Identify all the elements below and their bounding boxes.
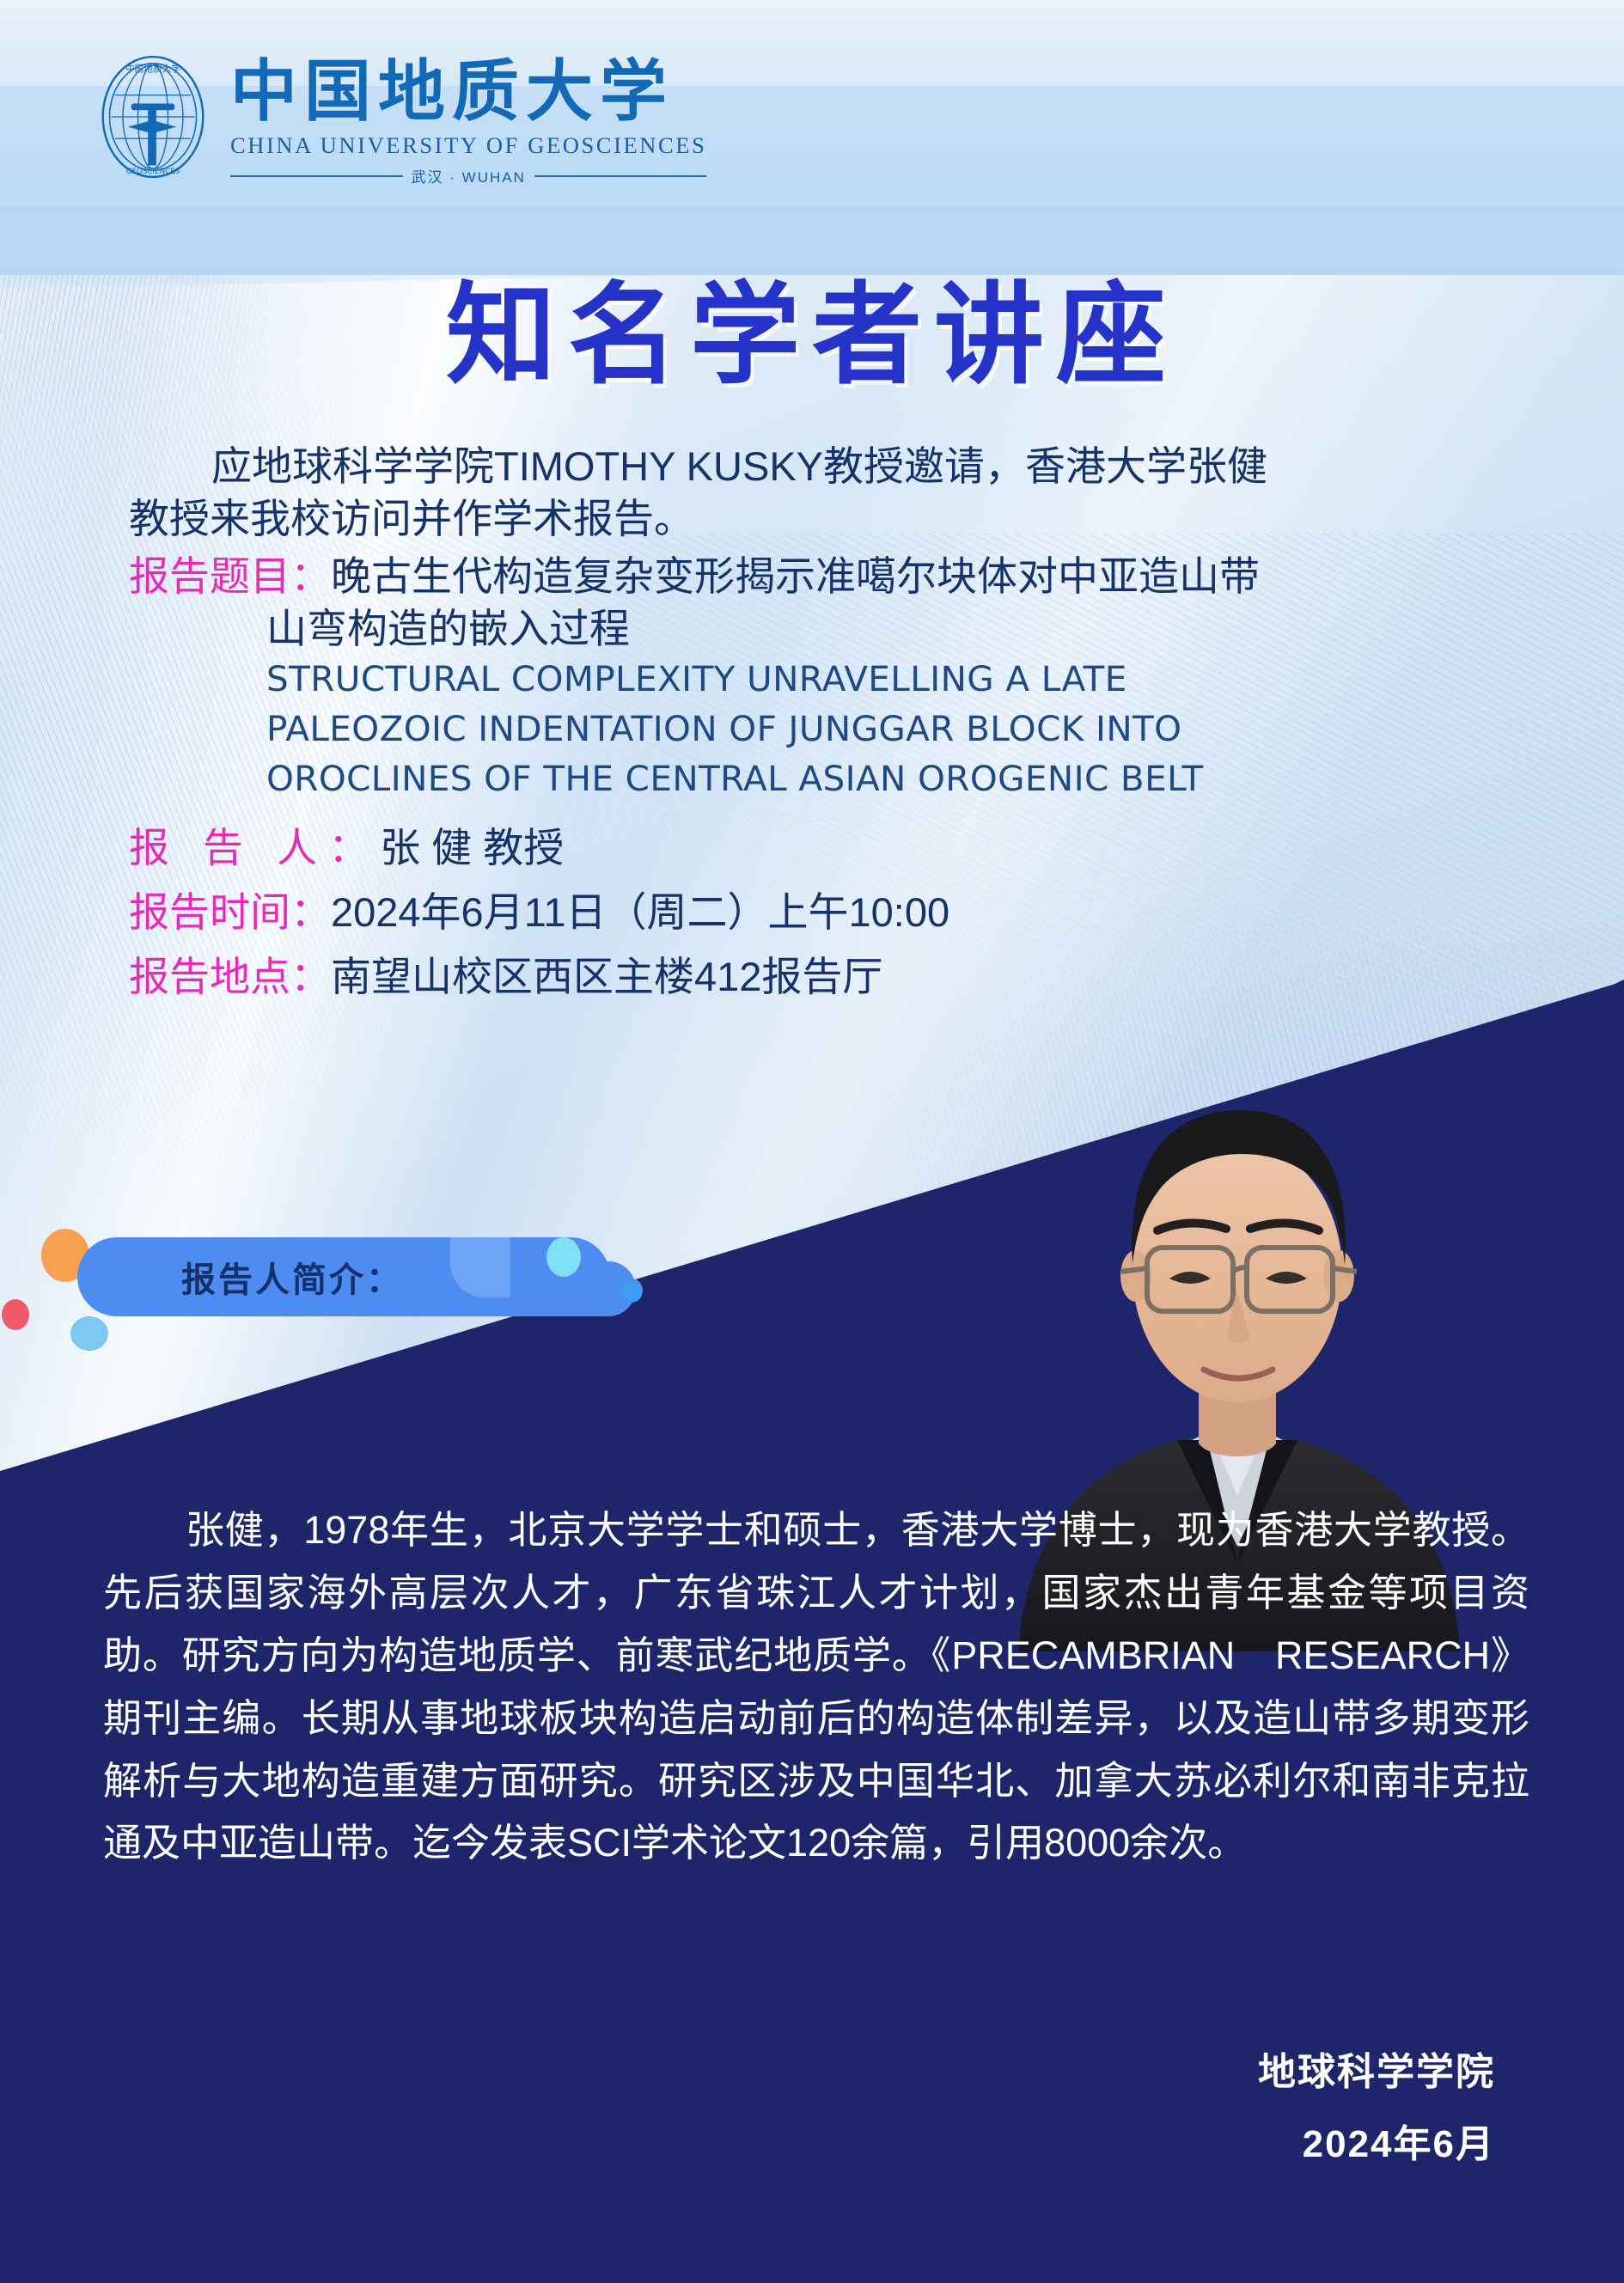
biography-text: 张健，1978年生，北京大学学士和硕士，香港大学博士，现为香港大学教授。先后获国… (103, 1499, 1529, 1875)
topic-en-line-2: PALEOZOIC INDENTATION OF JUNGGAR BLOCK I… (266, 705, 1538, 754)
decor-dot-cyan (546, 1237, 581, 1277)
topic-row: 报告题目： 晚古生代构造复杂变形揭示准噶尔块体对中亚造山带 (129, 550, 1538, 602)
intro-line-2: 教授来我校访问并作学术报告。 (129, 492, 1538, 545)
svg-text:中国地质大学: 中国地质大学 (125, 64, 180, 75)
bio-section-badge: 报告人简介： (0, 1217, 653, 1337)
speaker-label: 报 告 人： (129, 821, 380, 874)
poster-title: 知名学者讲座 (0, 277, 1624, 395)
place-label: 报告地点： (129, 950, 331, 1003)
decor-dot-red (2, 1299, 29, 1330)
place-row: 报告地点： 南望山校区西区主楼412报告厅 (129, 950, 1538, 1003)
speaker-row: 报 告 人： 张 健 教授 (129, 821, 1538, 874)
footer-organization: 地球科学学院 (1258, 2036, 1495, 2109)
time-row: 报告时间： 2024年6月11日（周二）上午10:00 (129, 886, 1538, 938)
info-block: 应地球科学学院TIMOTHY KUSKY教授邀请，香港大学张健 教授来我校访问并… (129, 440, 1538, 1003)
topic-en-line-3: OROCLINES OF THE CENTRAL ASIAN OROGENIC … (266, 754, 1538, 804)
time-value: 2024年6月11日（周二）上午10:00 (331, 886, 949, 938)
university-campus: 武汉 · WUHAN (230, 165, 706, 186)
university-logo: 中国地质大学 GEOSCIENCES 中国地质大学 CHINA UNIVERSI… (95, 53, 748, 217)
decor-dot-light-blue (70, 1316, 108, 1351)
biography-block: 张健，1978年生，北京大学学士和硕士，香港大学博士，现为香港大学教授。先后获国… (103, 1499, 1529, 1875)
lecture-poster: 中国地质大学 GEOSCIENCES 中国地质大学 CHINA UNIVERSI… (0, 0, 1624, 2283)
topic-cn-line-1: 晚古生代构造复杂变形揭示准噶尔块体对中亚造山带 (331, 550, 1260, 602)
footer-date: 2024年6月 (1258, 2109, 1495, 2181)
campus-rule-left (230, 175, 403, 177)
meta-block: 报 告 人： 张 健 教授 报告时间： 2024年6月11日（周二）上午10:0… (129, 821, 1538, 1003)
university-seal-icon: 中国地质大学 GEOSCIENCES (95, 53, 211, 180)
poster-footer: 地球科学学院 2024年6月 (1258, 2036, 1495, 2180)
speaker-value: 张 健 教授 (380, 821, 564, 874)
university-name-cn: 中国地质大学 (230, 58, 706, 125)
badge-label: 报告人简介： (77, 1237, 507, 1316)
topic-cn-line-2: 山弯构造的嵌入过程 (266, 602, 1538, 655)
campus-rule-right (534, 175, 707, 177)
time-label: 报告时间： (129, 886, 331, 938)
campus-label: 武汉 · WUHAN (412, 165, 526, 186)
svg-text:GEOSCIENCES: GEOSCIENCES (126, 168, 180, 176)
topic-label: 报告题目： (129, 550, 331, 602)
university-name-en: CHINA UNIVERSITY OF GEOSCIENCES (230, 132, 706, 159)
place-value: 南望山校区西区主楼412报告厅 (331, 950, 882, 1003)
intro-line-1: 应地球科学学院TIMOTHY KUSKY教授邀请，香港大学张健 (129, 440, 1538, 492)
decor-dot-blue (620, 1279, 643, 1303)
topic-en-line-1: STRUCTURAL COMPLEXITY UNRAVELLING A LATE (266, 655, 1538, 705)
